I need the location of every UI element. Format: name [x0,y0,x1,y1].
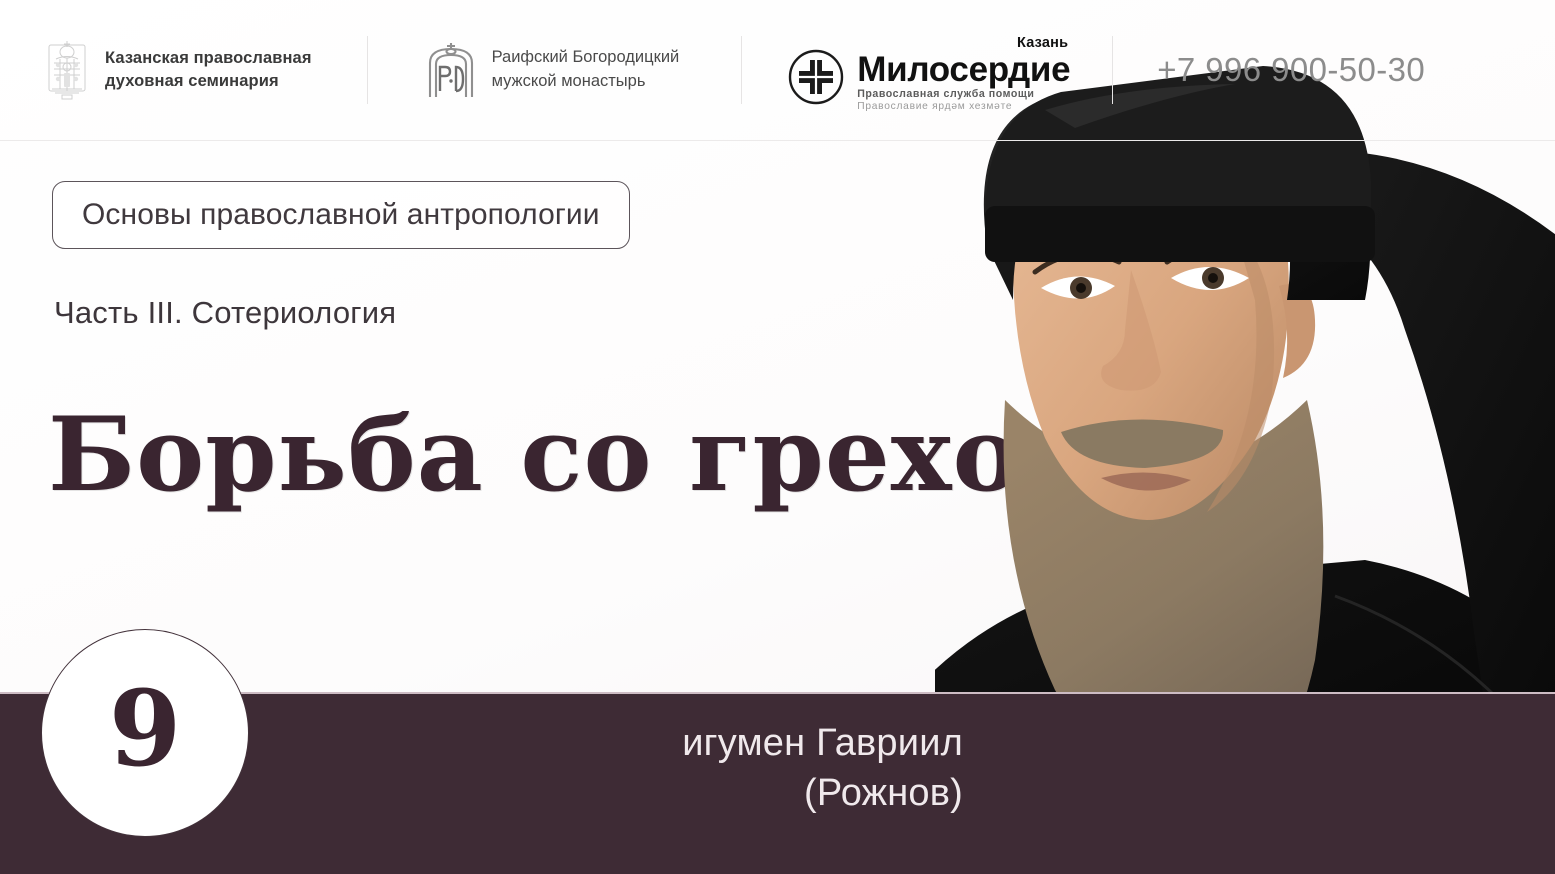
seminary-name-line2: духовная семинария [105,70,312,93]
contact-phone[interactable]: +7 996 900-50-30 [1157,51,1425,89]
course-name-badge: Основы православной антропологии [52,181,630,249]
lesson-number: 9 [109,677,181,781]
header-bar: Казанская православная духовная семинари… [0,0,1555,141]
logo-kazan-seminary: Казанская православная духовная семинари… [46,23,312,118]
monastery-monogram-icon [426,41,476,99]
header-divider-2 [741,36,742,104]
header-divider-3 [1112,36,1113,104]
speaker-name-line1: игумен Гавриил [682,718,963,768]
monastery-name-line1: Раифский Богородицкий [492,46,680,70]
speaker-name: игумен Гавриил (Рожнов) [682,718,963,818]
mercy-name: Милосердие [857,52,1070,88]
header-divider-1 [367,36,368,104]
mercy-wordmark: Казань Милосердие Православная служба по… [857,39,1070,113]
lecture-title-slide: Казанская православная духовная семинари… [0,0,1555,874]
logo-miloserdie: Казань Милосердие Православная служба по… [788,23,1070,118]
seminary-name-line1: Казанская православная [105,47,312,70]
mercy-subtitle-ru: Православная служба помощи [857,88,1070,100]
monastery-name: Раифский Богородицкий мужской монастырь [492,46,680,94]
lecture-title: Борьба со грехом [48,404,1111,506]
course-part-label: Часть III. Сотериология [54,295,396,331]
monastery-name-line2: мужской монастырь [492,70,680,94]
speaker-name-line2: (Рожнов) [682,768,963,818]
seminary-seal-icon [46,39,88,101]
logo-raifa-monastery: Раифский Богородицкий мужской монастырь [426,23,680,118]
mercy-cross-icon [788,49,844,105]
mercy-city: Казань [1017,35,1068,51]
lesson-number-badge: 9 [41,629,249,837]
mercy-subtitle-tt: Православие ярдәм хезмәте [857,101,1070,112]
seminary-name: Казанская православная духовная семинари… [105,47,312,94]
